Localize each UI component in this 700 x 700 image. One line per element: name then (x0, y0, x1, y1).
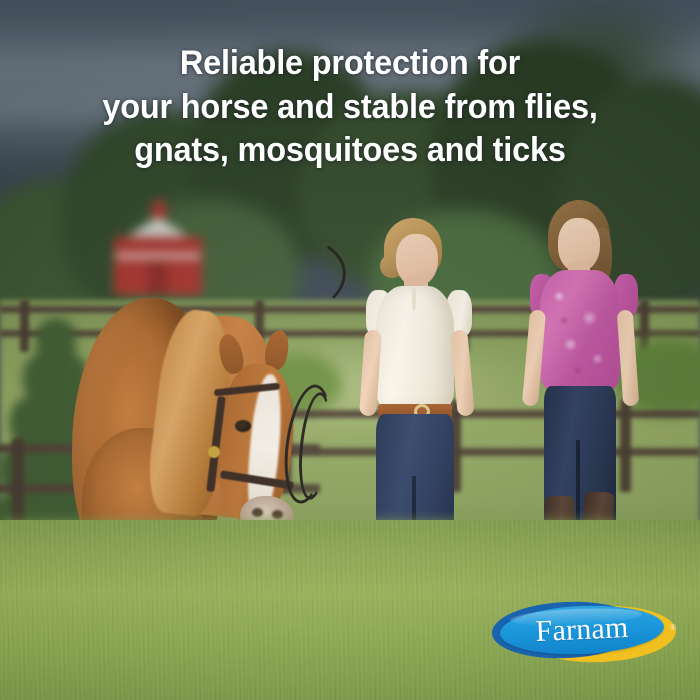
fence-post (12, 438, 24, 524)
horse-halter-ring (208, 446, 220, 458)
registered-trademark-icon: ® (670, 624, 676, 632)
barn-cupola (152, 201, 166, 219)
farnam-logo[interactable]: Farnam ® (492, 602, 678, 664)
headline-container: Reliable protection for your horse and s… (0, 0, 700, 173)
girl-arm-right (617, 310, 640, 407)
girl-shirt (540, 270, 620, 390)
woman-arm-right (450, 329, 474, 416)
logo-wordmark: Farnam (499, 602, 665, 657)
page-title: Reliable protection for your horse and s… (54, 42, 646, 173)
horse-eye (235, 420, 251, 432)
product-ad-banner: Reliable protection for your horse and s… (0, 0, 700, 700)
